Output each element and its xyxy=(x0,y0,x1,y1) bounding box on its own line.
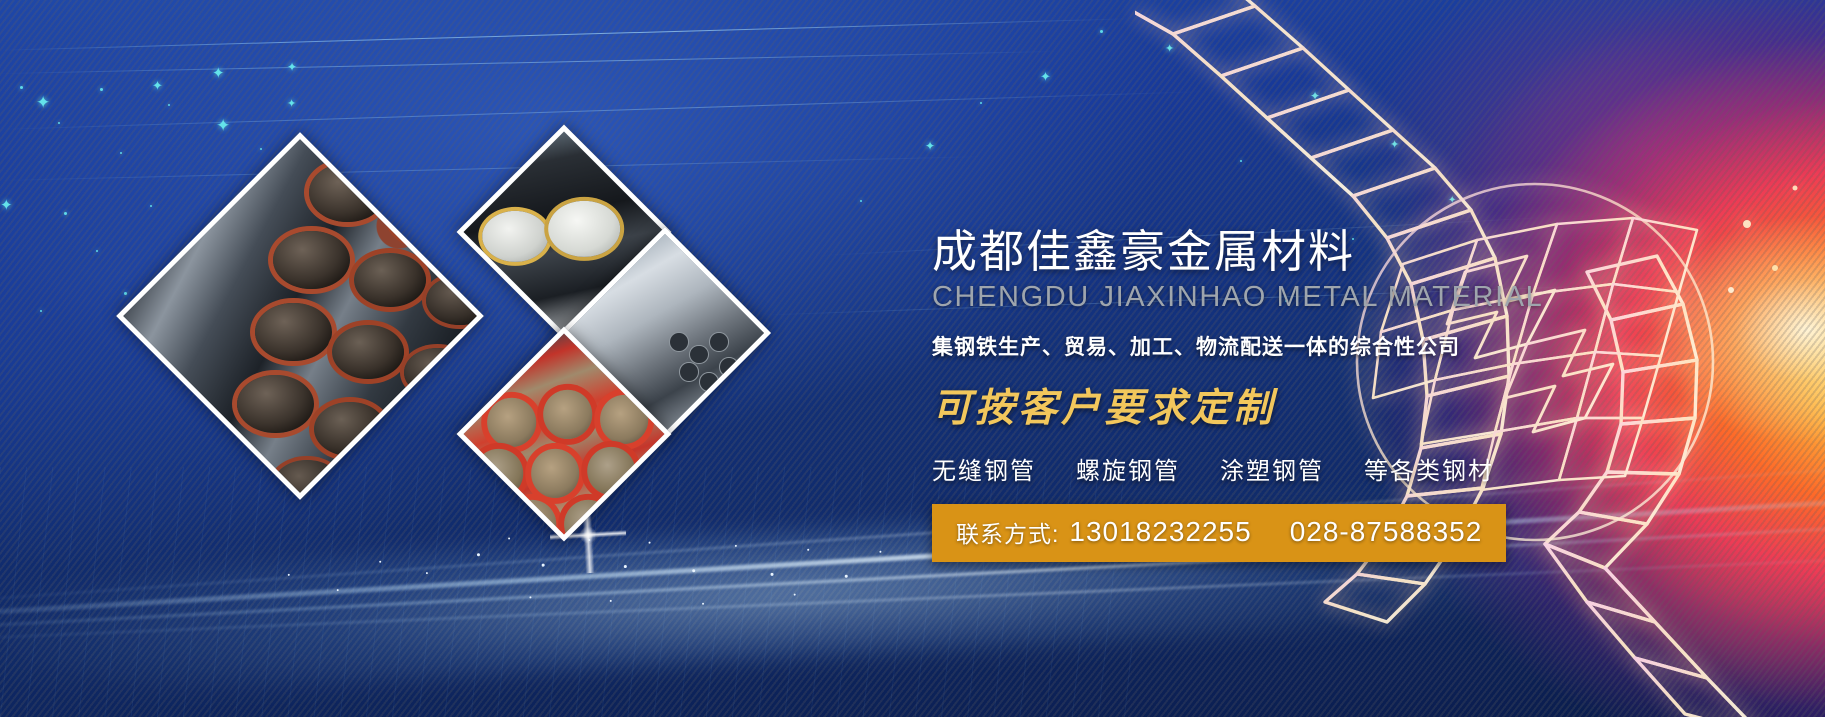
sparkle-dot xyxy=(168,104,170,106)
contact-landline[interactable]: 028-87588352 xyxy=(1290,516,1483,548)
sparkle-dot xyxy=(860,200,862,202)
contact-label: 联系方式: xyxy=(956,515,1059,549)
banner-text-block: 成都佳鑫豪金属材料 CHENGDU JIAXINHAO METAL MATERI… xyxy=(932,228,1572,562)
star-icon: ✦ xyxy=(0,198,13,213)
star-icon: ✦ xyxy=(287,61,297,73)
sparkle-dot xyxy=(980,102,982,104)
company-name-en: CHENGDU JIAXINHAO METAL MATERIAL xyxy=(932,281,1572,314)
star-icon: ✦ xyxy=(1040,70,1051,83)
company-slogan: 集钢铁生产、贸易、加工、物流配送一体的综合性公司 xyxy=(932,331,1572,361)
sparkle-dot xyxy=(58,122,60,124)
star-icon: ✦ xyxy=(212,66,225,81)
contact-mobile[interactable]: 13018232255 xyxy=(1069,516,1251,548)
star-icon: ✦ xyxy=(287,99,296,110)
star-icon: ✦ xyxy=(152,79,163,92)
star-icon: ✦ xyxy=(925,140,935,152)
contact-bar: 联系方式: 13018232255 028-87588352 xyxy=(932,504,1506,562)
sparkle-dot xyxy=(1100,30,1103,33)
company-name-cn: 成都佳鑫豪金属材料 xyxy=(932,228,1572,277)
product-item: 等各类钢材 xyxy=(1364,451,1494,486)
product-list: 无缝钢管 螺旋钢管 涂塑钢管 等各类钢材 xyxy=(932,451,1572,486)
sparkle-dot xyxy=(120,152,122,154)
sparkle-dot xyxy=(124,292,127,295)
star-icon: ✦ xyxy=(36,94,50,111)
custom-headline: 可按客户要求定制 xyxy=(932,377,1572,433)
photo-seamless-steel-pipes xyxy=(116,132,484,500)
sparkle-dot xyxy=(100,88,103,91)
company-banner: ✦ ✦ ✦ ✦ ✦ ✦ ✦ ✦ ✦ ✦ ✦ ✦ ✦ xyxy=(0,0,1825,717)
product-photo-collage xyxy=(150,110,770,630)
sparkle-dot xyxy=(40,310,42,312)
product-item: 无缝钢管 xyxy=(932,451,1036,486)
sparkle-dot xyxy=(96,250,98,252)
product-item: 螺旋钢管 xyxy=(1076,451,1180,486)
sparkle-dot xyxy=(64,212,67,215)
sparkle-dot xyxy=(20,86,23,89)
product-item: 涂塑钢管 xyxy=(1220,451,1324,486)
